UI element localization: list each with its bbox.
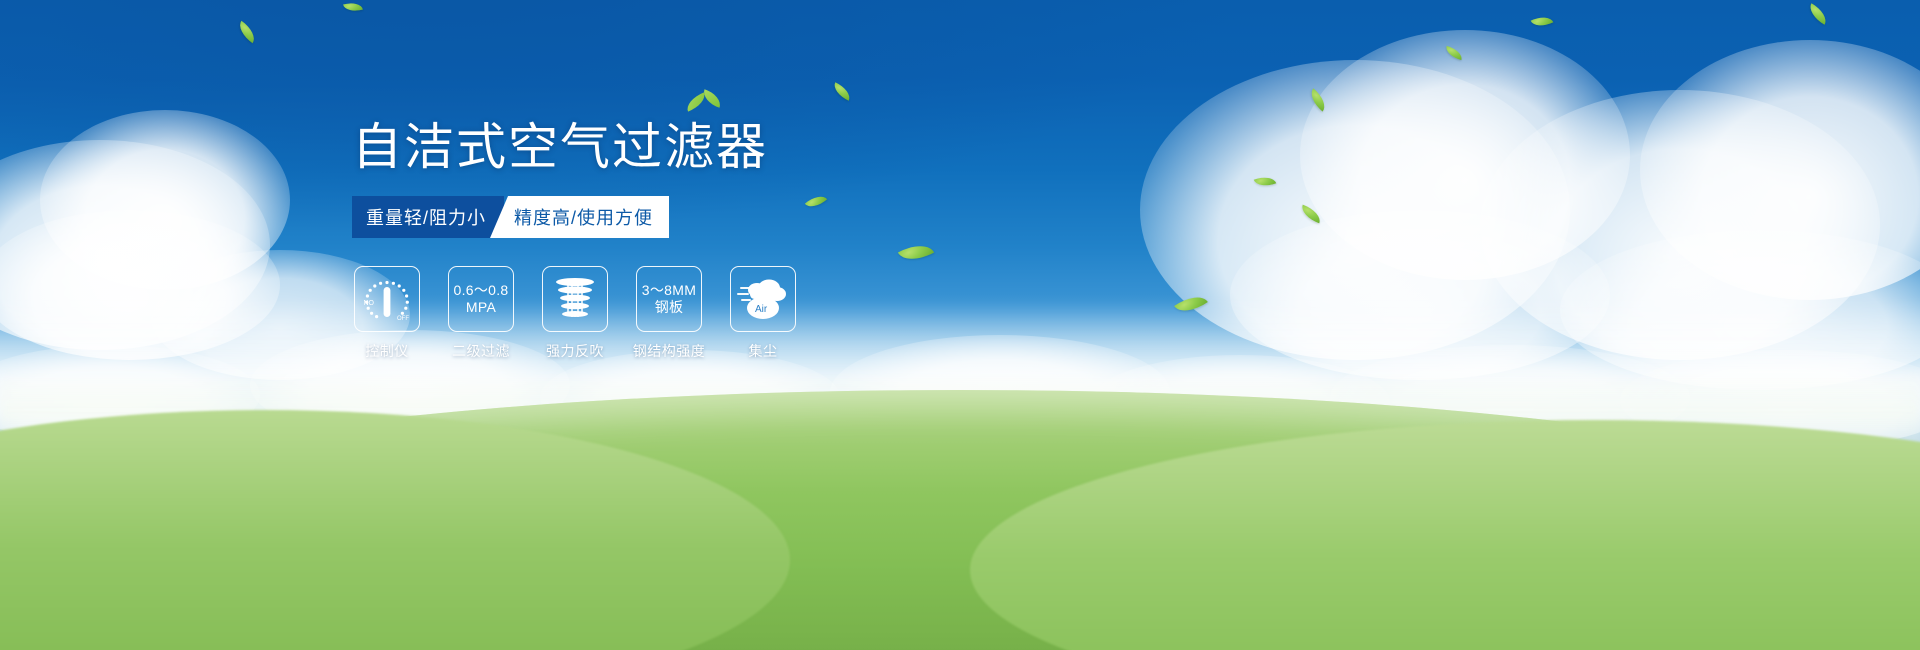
feature-item-control-meter: NO OFF 控制仪 — [352, 266, 422, 361]
feature-text-line: 3～8MM — [642, 282, 696, 299]
feature-icon-box: NO OFF — [354, 266, 420, 332]
feature-label: 钢结构强度 — [633, 341, 706, 361]
feature-label: 集尘 — [749, 341, 778, 361]
tagline-bar: 重量轻/阻力小 精度高/使用方便 — [352, 196, 674, 238]
sky-gradient — [0, 0, 1920, 300]
banner-content: 自洁式空气过滤器 重量轻/阻力小 精度高/使用方便 — [352, 118, 872, 361]
hero-banner: 自洁式空气过滤器 重量轻/阻力小 精度高/使用方便 — [0, 0, 1920, 650]
svg-text:OFF: OFF — [397, 316, 409, 322]
tagline-secondary: 精度高/使用方便 — [490, 196, 669, 238]
feature-label: 二级过滤 — [452, 341, 510, 361]
feature-text-line: MPA — [466, 299, 496, 316]
tagline-primary: 重量轻/阻力小 — [352, 196, 504, 238]
page-title: 自洁式空气过滤器 — [352, 118, 872, 176]
feature-text-line: 0.6～0.8 — [453, 282, 508, 299]
svg-text:NO: NO — [364, 300, 375, 307]
feature-item-pressure: 0.6～0.8 MPA 二级过滤 — [446, 266, 516, 361]
feature-label: 强力反吹 — [546, 341, 604, 361]
gauge-dial-icon: NO OFF — [361, 275, 413, 323]
feature-item-blowback: 强力反吹 — [540, 266, 610, 361]
cloud-air-icon: Air — [737, 276, 789, 322]
feature-list: NO OFF 控制仪 0.6～0.8 MPA 二级过滤 — [352, 266, 872, 361]
feature-icon-box: Air — [730, 266, 796, 332]
feature-text-line: 钢板 — [655, 299, 684, 316]
feature-item-dust-collection: Air 集尘 — [728, 266, 798, 361]
feature-item-steel-structure: 3～8MM 钢板 钢结构强度 — [634, 266, 704, 361]
feature-icon-box — [542, 266, 608, 332]
svg-text:Air: Air — [755, 304, 768, 315]
feature-icon-box: 3～8MM 钢板 — [636, 266, 702, 332]
feature-label: 控制仪 — [365, 341, 409, 361]
filter-coil-icon — [552, 275, 598, 323]
feature-icon-box: 0.6～0.8 MPA — [448, 266, 514, 332]
